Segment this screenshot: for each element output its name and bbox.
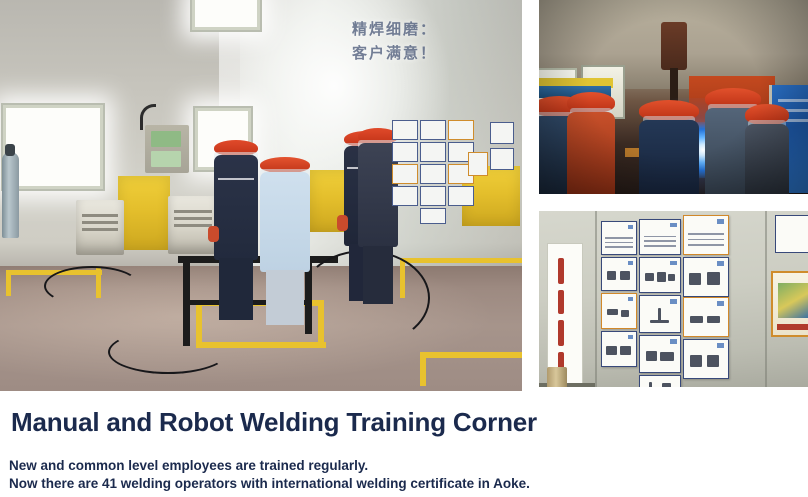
procedure-sheet [420, 164, 446, 184]
safety-poster [468, 152, 488, 176]
wall-panel-seam [765, 211, 767, 387]
framed-procedure-sheet [601, 331, 637, 367]
framed-procedure-sheet [639, 375, 681, 387]
welding-training-workshop-photo: 精焊细磨： 客户满意！ [0, 0, 522, 391]
safety-illustration-poster [771, 271, 808, 337]
welding-booth-screen [118, 176, 170, 250]
work-table-top [178, 256, 338, 263]
floor-marking [420, 352, 426, 386]
procedure-sheet [448, 120, 474, 140]
arc-welding-demonstration-photo [539, 0, 808, 194]
worker-legs [363, 246, 393, 304]
welding-machine [168, 196, 218, 254]
welding-machine [76, 200, 124, 255]
slide-root: 精焊细磨： 客户满意！ [0, 0, 808, 497]
framed-procedure-sheet [639, 219, 681, 255]
welding-procedure-board-wall-photo [539, 211, 808, 387]
procedure-sheet [490, 122, 514, 144]
framed-procedure-sheet [683, 215, 729, 255]
worker-legs [266, 270, 304, 325]
floor-marking [420, 352, 522, 358]
procedure-sheet [420, 186, 446, 206]
gas-cylinder [2, 152, 19, 238]
gas-cylinder-valve [5, 144, 15, 156]
poster-illustration [778, 283, 808, 318]
worker-uniform [260, 172, 310, 272]
framed-procedure-sheet [601, 221, 637, 255]
subtitle-line-2: Now there are 41 welding operators with … [9, 475, 530, 493]
metal-can [547, 367, 567, 387]
trainee-worker [214, 140, 258, 320]
framed-procedure-sheet [683, 257, 729, 297]
floor-marking [400, 258, 522, 263]
trainee-worker [260, 157, 310, 325]
framed-procedure-sheet [683, 297, 729, 337]
framed-procedure-sheet [639, 257, 681, 293]
handwritten-notice-sheet [547, 243, 583, 387]
page-title: Manual and Robot Welding Training Corner [11, 407, 537, 438]
framed-procedure-sheet [601, 293, 637, 329]
photo-vignette [539, 0, 808, 194]
procedure-sheet [392, 142, 418, 162]
poster-caption-bar [777, 324, 808, 330]
procedure-sheet [420, 142, 446, 162]
worker-legs [219, 258, 252, 320]
welding-glove [208, 226, 219, 242]
floor-cable [44, 266, 140, 306]
framed-procedure-sheet [775, 215, 808, 253]
framed-procedure-sheet [639, 295, 681, 333]
procedure-sheet [392, 164, 418, 184]
worker-uniform [214, 155, 258, 260]
framed-procedure-sheet [639, 335, 681, 373]
chinese-wall-slogan: 精焊细磨： 客户满意！ [352, 17, 472, 69]
panel-screen-upper [151, 131, 181, 147]
procedure-sheet [448, 186, 474, 206]
welding-glove [337, 215, 348, 231]
control-panel [145, 125, 189, 173]
subtitle-line-1: New and common level employees are train… [9, 457, 530, 475]
procedure-sheet [420, 208, 446, 224]
workshop-window-top [192, 0, 260, 30]
slogan-line-2: 客户满意！ [352, 41, 472, 65]
panel-screen-lower [151, 151, 181, 167]
framed-procedure-sheet [601, 257, 637, 291]
procedure-sheet [490, 148, 514, 170]
procedure-poster-wall [392, 112, 522, 216]
procedure-sheet [392, 186, 418, 206]
floor-marking [6, 270, 11, 296]
wall-panel-seam [595, 211, 597, 387]
caption-block: Manual and Robot Welding Training Corner… [0, 395, 808, 497]
procedure-sheet [420, 120, 446, 140]
subtitle-block: New and common level employees are train… [9, 457, 530, 493]
procedure-sheet [392, 120, 418, 140]
floor-cable [108, 330, 228, 374]
framed-procedure-sheet [683, 339, 729, 379]
slogan-line-1: 精焊细磨： [352, 17, 472, 41]
